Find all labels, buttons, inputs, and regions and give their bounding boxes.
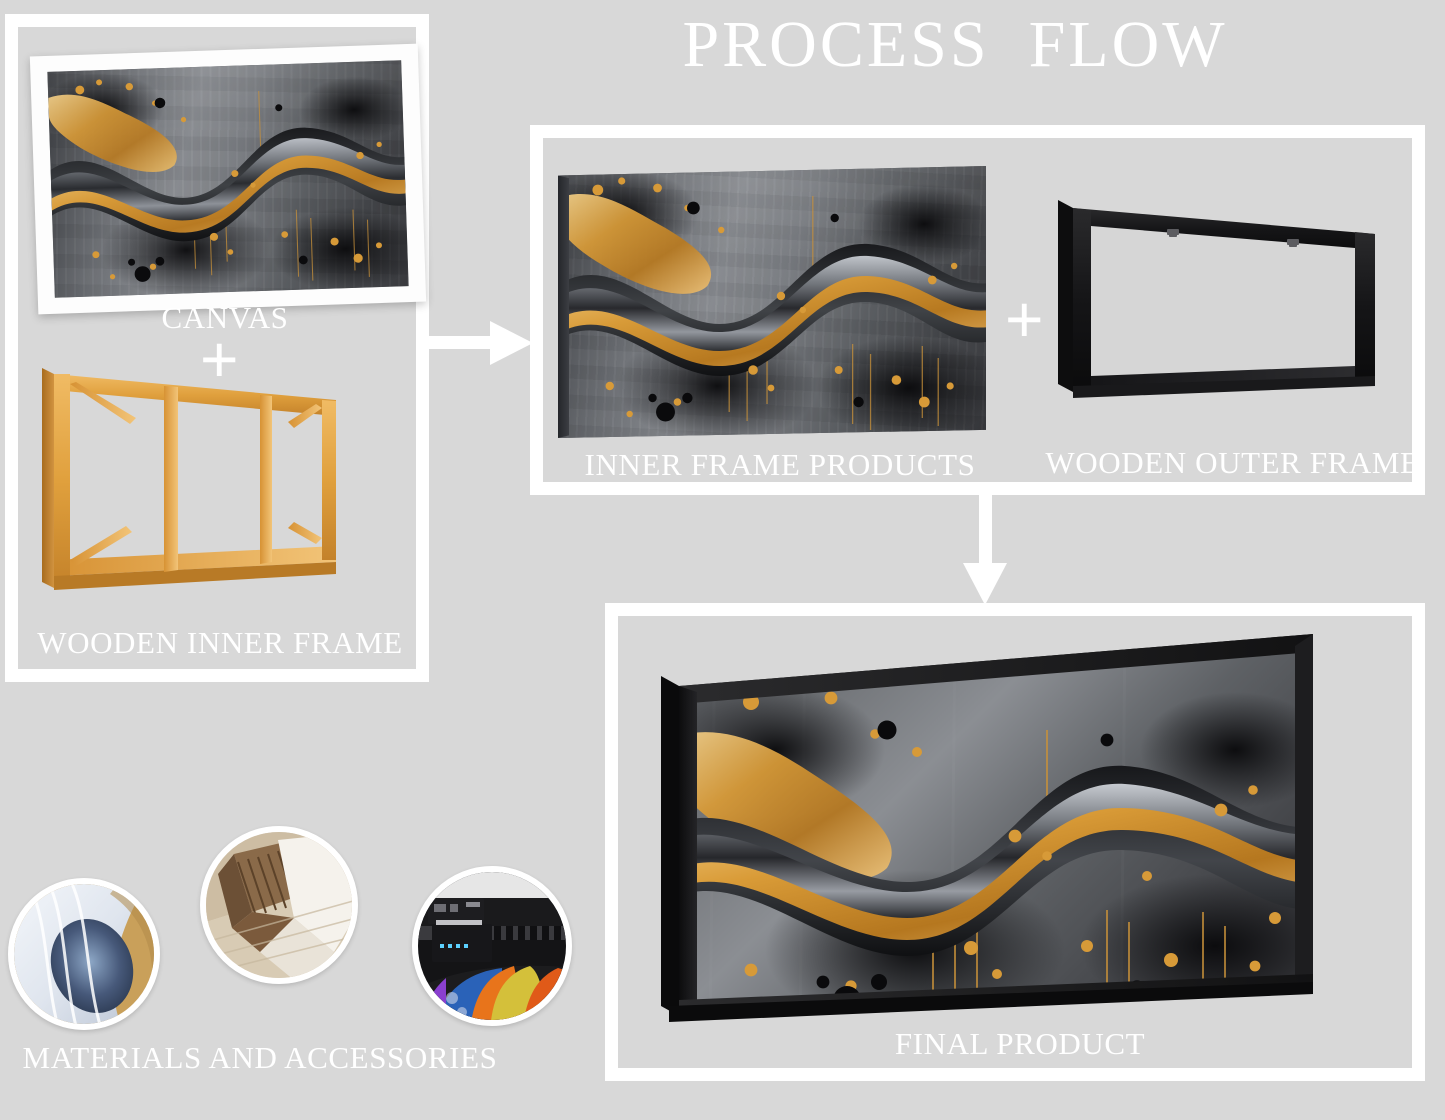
- wooden-inner-frame-label: WOODEN INNER FRAME: [20, 625, 420, 661]
- final-product-label: FINAL PRODUCT: [700, 1026, 1340, 1062]
- materials-and-accessories-label: MATERIALS AND ACCESSORIES: [20, 1040, 500, 1076]
- black-empty-frame-image: [1055, 186, 1385, 434]
- canvas-roll-photo: [8, 878, 160, 1030]
- arrow-down-icon: [962, 495, 1008, 605]
- arrow-right-icon: [428, 320, 533, 366]
- wooden-stretcher-frame-image: [36, 360, 396, 622]
- abstract-wave-artwork: [47, 60, 408, 298]
- page-title: PROCESS FLOW: [615, 12, 1295, 78]
- inner-frame-products-label: INNER FRAME PRODUCTS: [555, 447, 1005, 483]
- plus-sign-assembly: +: [1005, 296, 1044, 344]
- printing-machine-photo: [412, 866, 572, 1026]
- corrugated-packaging-photo: [200, 826, 358, 984]
- abstract-wave-artwork: [558, 166, 986, 438]
- wooden-outer-frame-label: WOODEN OUTER FRAME: [1040, 445, 1425, 481]
- framed-artwork-image: [655, 630, 1325, 1030]
- process-flow-diagram: PROCESS FLOW: [0, 0, 1445, 1120]
- canvas-depth-edge: [558, 176, 569, 438]
- canvas-artwork-image: [30, 44, 426, 315]
- stretched-canvas-image: [558, 166, 986, 438]
